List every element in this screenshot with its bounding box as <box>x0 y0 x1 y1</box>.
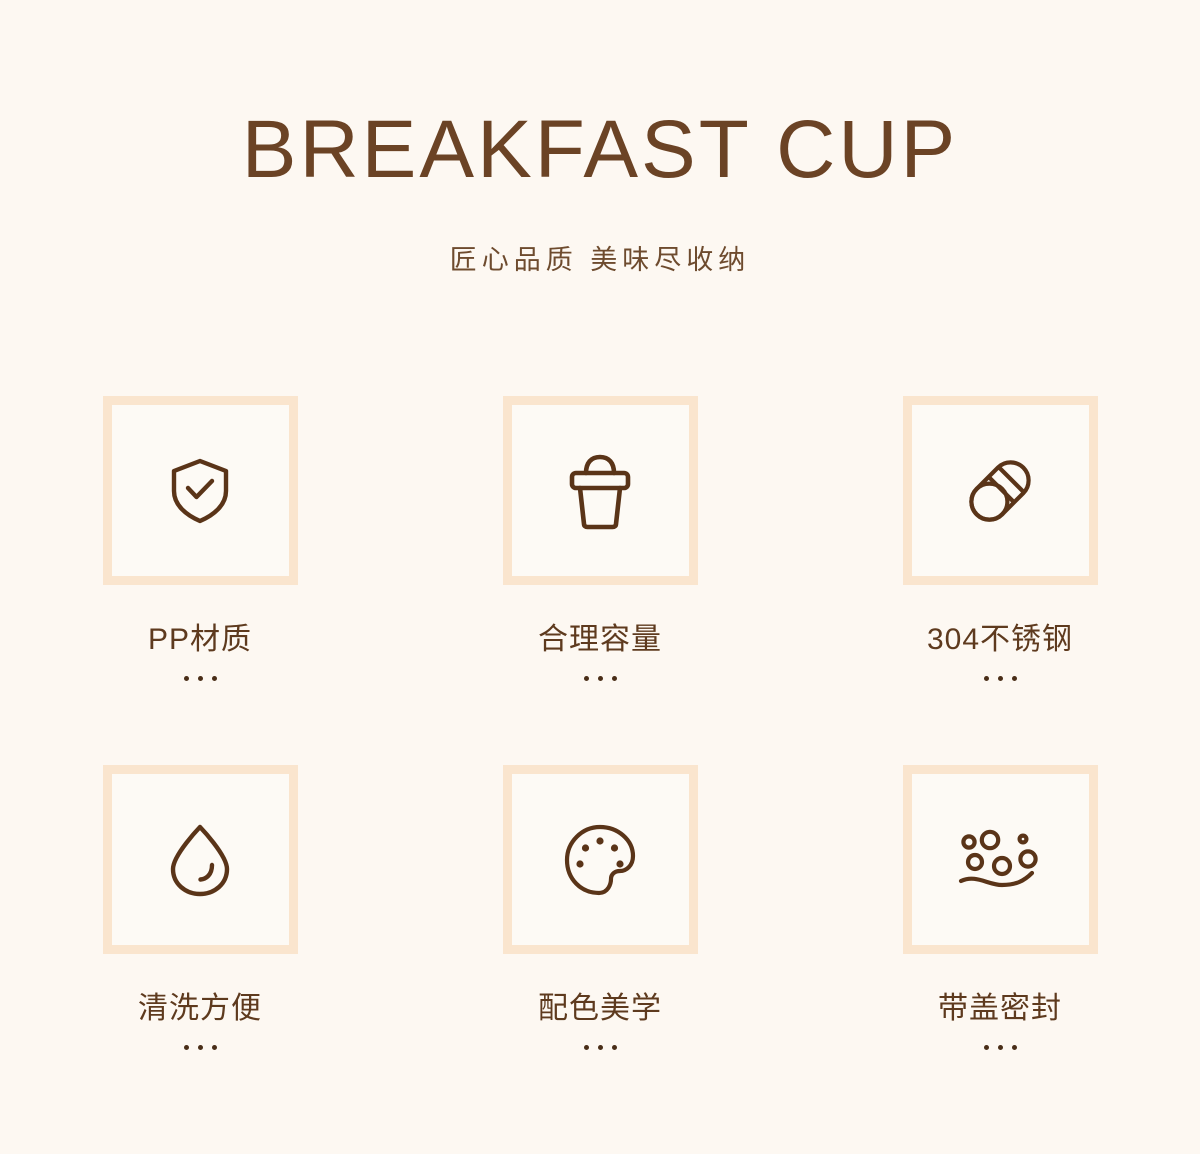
feature-dots <box>184 676 217 681</box>
icon-box <box>103 765 298 954</box>
feature-item-pp-material[interactable]: PP材质 <box>25 396 375 765</box>
feature-label: 合理容量 <box>538 621 662 659</box>
feature-dots <box>984 1045 1017 1050</box>
page-header: BREAKFAST CUP 匠心品质 美味尽收纳 <box>0 0 1200 278</box>
feature-dots <box>584 676 617 681</box>
steel-cylinder-icon <box>962 453 1038 529</box>
icon-box <box>103 396 298 585</box>
water-droplet-icon <box>167 823 233 897</box>
bubbles-seal-icon <box>958 829 1042 891</box>
feature-label: 配色美学 <box>538 990 662 1028</box>
icon-box <box>903 396 1098 585</box>
icon-box <box>503 765 698 954</box>
shield-check-icon <box>169 458 231 524</box>
paint-palette-icon <box>563 823 637 897</box>
feature-dots <box>184 1045 217 1050</box>
feature-item-sealed-lid[interactable]: 带盖密封 <box>825 765 1175 1134</box>
feature-label: 304不锈钢 <box>927 621 1073 659</box>
page-subtitle: 匠心品质 美味尽收纳 <box>0 196 1200 278</box>
feature-dots <box>984 676 1017 681</box>
feature-item-easy-clean[interactable]: 清洗方便 <box>25 765 375 1134</box>
feature-grid: PP材质 合理容量 <box>0 396 1200 1134</box>
feature-label: 带盖密封 <box>938 990 1062 1028</box>
icon-box <box>503 396 698 585</box>
page-title: BREAKFAST CUP <box>0 104 1200 196</box>
feature-item-capacity[interactable]: 合理容量 <box>425 396 775 765</box>
feature-label: PP材质 <box>148 621 252 659</box>
feature-dots <box>584 1045 617 1050</box>
coffee-cup-icon <box>569 452 631 530</box>
icon-box <box>903 765 1098 954</box>
feature-label: 清洗方便 <box>138 990 262 1028</box>
feature-item-stainless-steel[interactable]: 304不锈钢 <box>825 396 1175 765</box>
feature-item-color-aesthetics[interactable]: 配色美学 <box>425 765 775 1134</box>
